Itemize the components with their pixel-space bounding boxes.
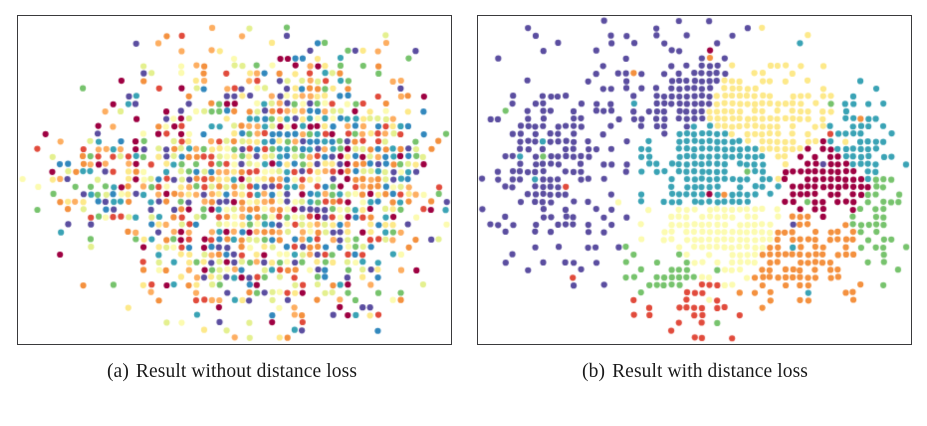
panel-b-caption-tag: (b) bbox=[582, 361, 605, 382]
scatter-plot-without-distance-loss bbox=[18, 16, 451, 344]
panel-a-caption-tag: (a) bbox=[107, 361, 129, 382]
panel-b: (b)Result with distance loss bbox=[463, 0, 927, 426]
panel-b-caption-text: Result with distance loss bbox=[612, 361, 808, 382]
panel-b-caption: (b)Result with distance loss bbox=[463, 360, 927, 383]
scatter-plot-with-distance-loss bbox=[478, 16, 911, 344]
panel-a: (a)Result without distance loss bbox=[0, 0, 464, 426]
panel-a-caption-text: Result without distance loss bbox=[136, 361, 357, 382]
panel-b-plot-frame bbox=[477, 15, 912, 345]
panel-a-plot-frame bbox=[17, 15, 452, 345]
figure-root: (a)Result without distance loss (b)Resul… bbox=[0, 0, 927, 426]
panel-a-caption: (a)Result without distance loss bbox=[0, 360, 464, 383]
